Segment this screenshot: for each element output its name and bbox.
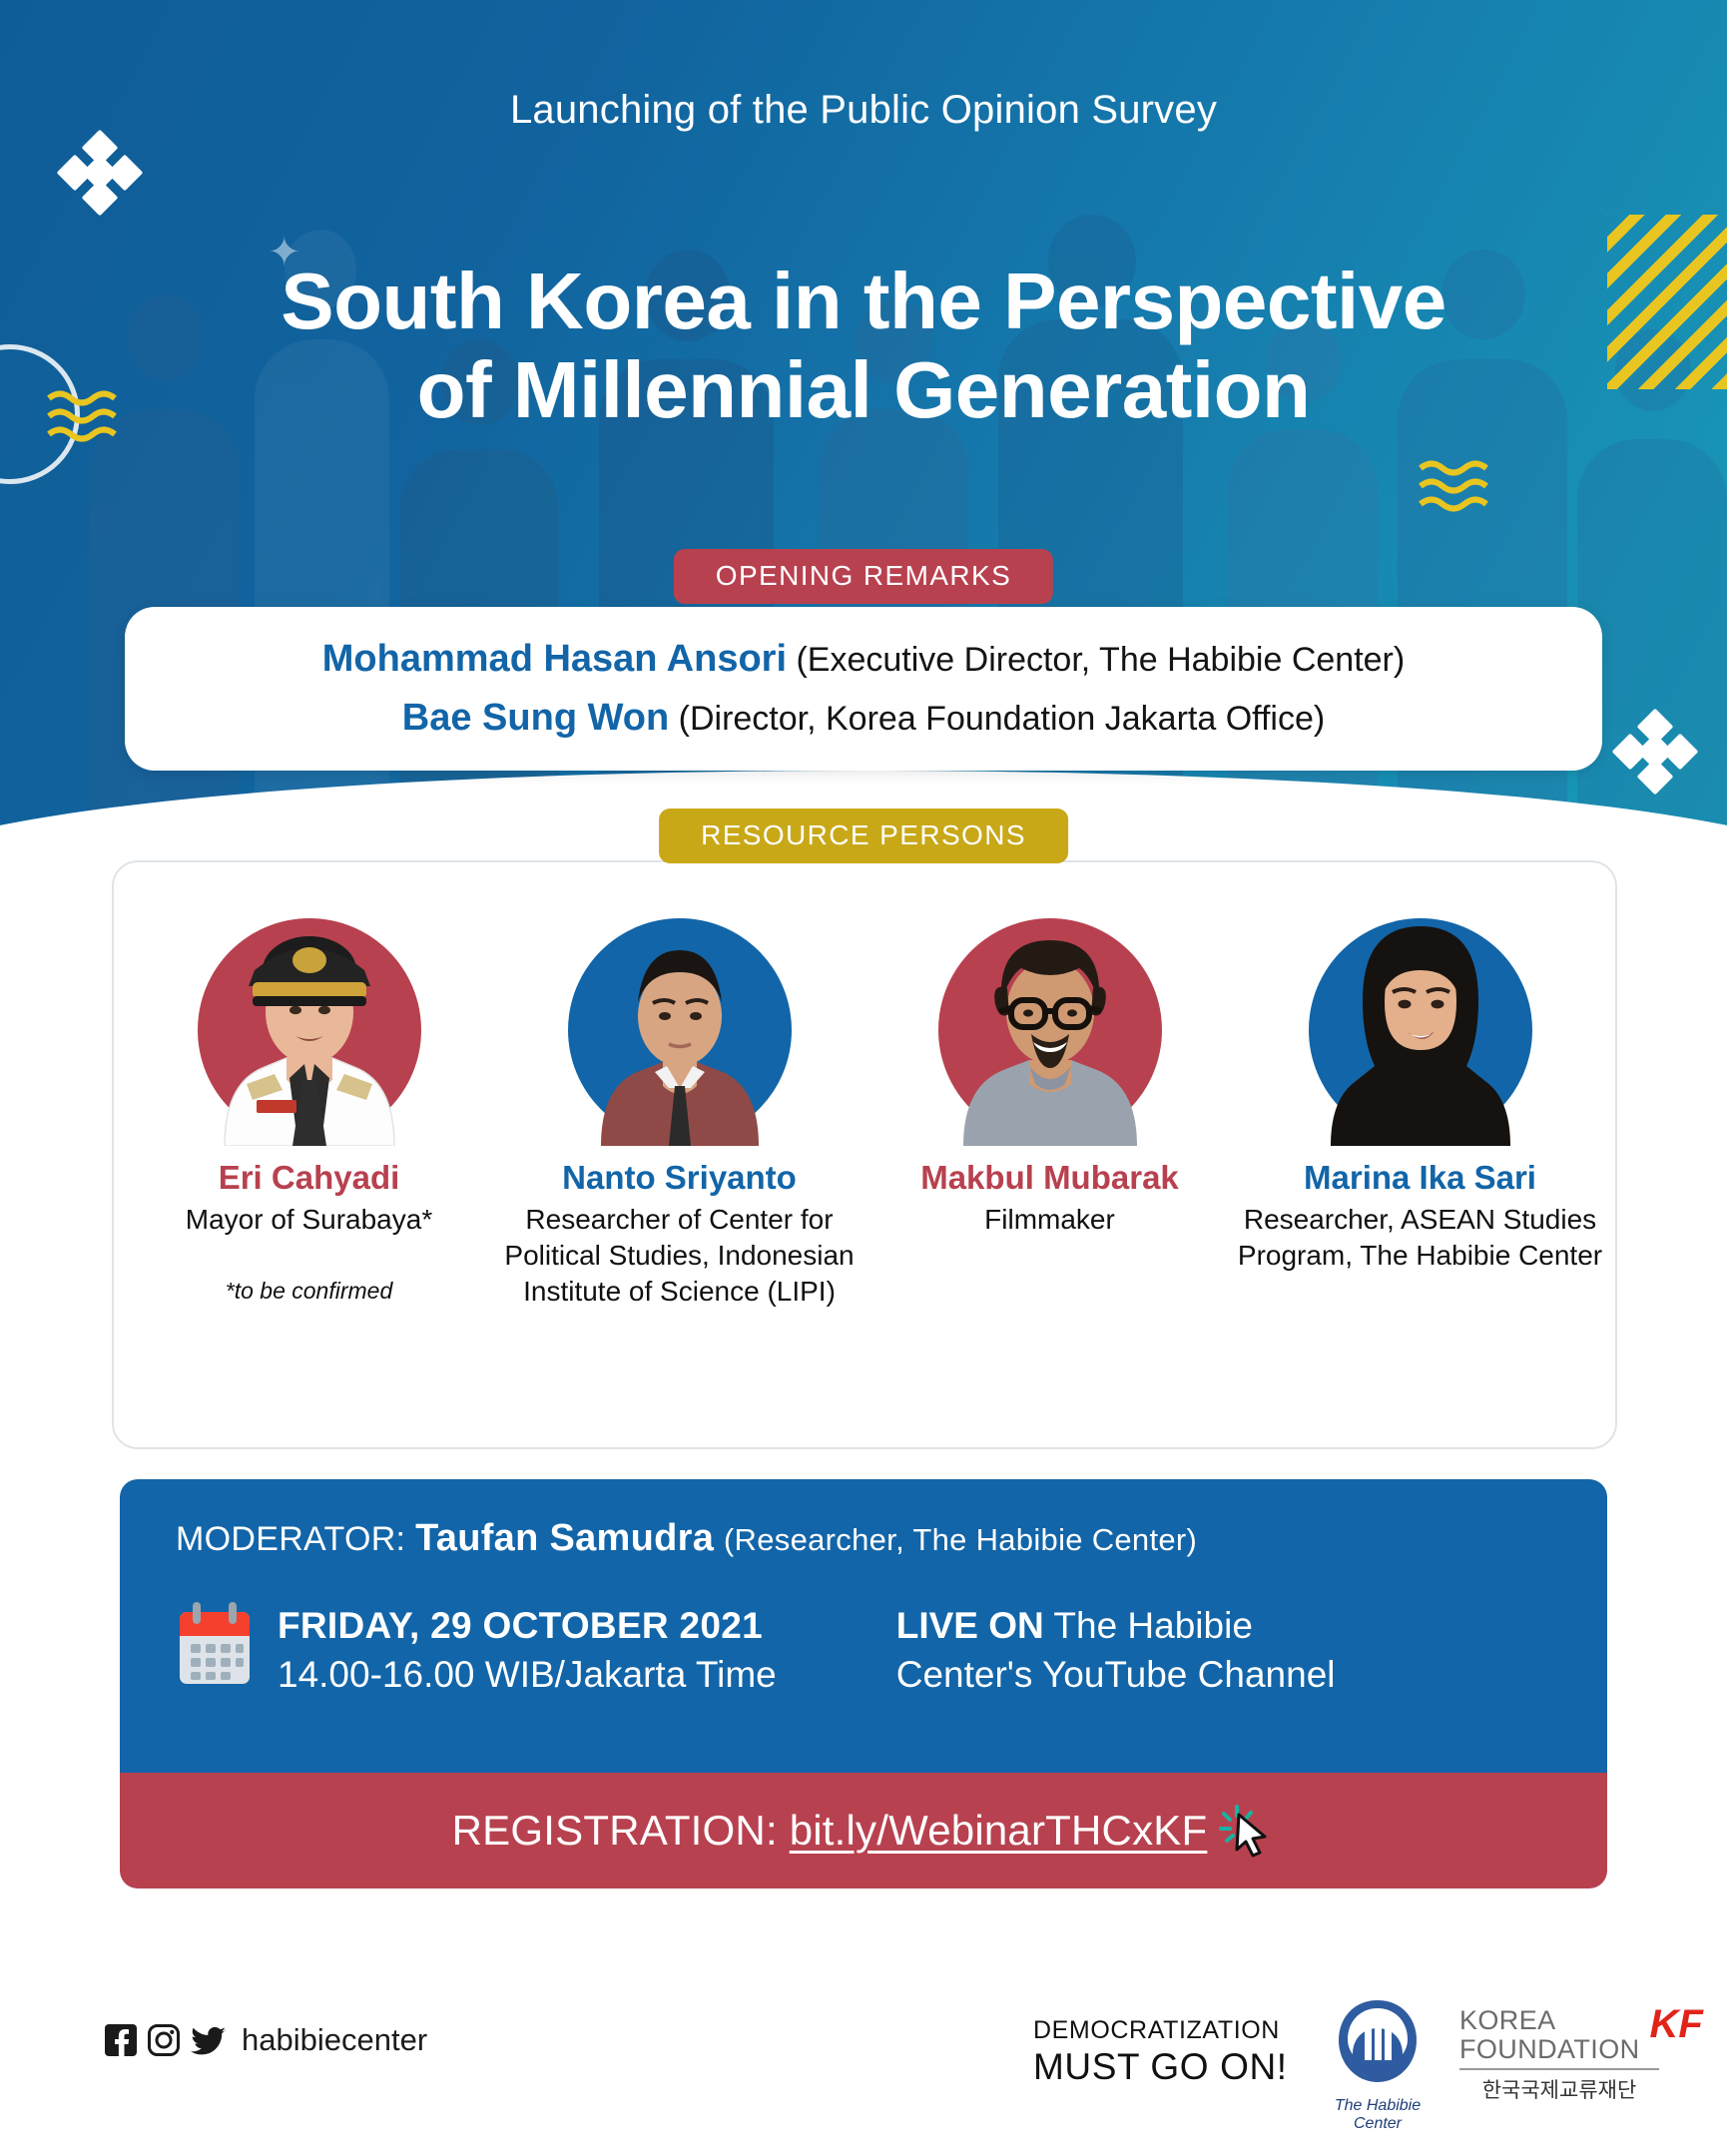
live-channel-line-2: Center's YouTube Channel: [896, 1651, 1336, 1700]
speaker-card: Eri Cahyadi Mayor of Surabaya* *to be co…: [124, 876, 494, 1447]
opening-speaker-1: Mohammad Hasan Ansori (Executive Directo…: [322, 630, 1405, 689]
event-datetime: FRIDAY, 29 OCTOBER 2021 14.00-16.00 WIB/…: [278, 1602, 777, 1700]
avatar: [549, 876, 811, 1146]
tagline-line-1: DEMOCRATIZATION: [1033, 2016, 1288, 2045]
portrait-nanto-sriyanto: [565, 884, 795, 1146]
speaker-card: Nanto Sriyanto Researcher of Center for …: [494, 876, 864, 1447]
speaker-role: Researcher, ASEAN Studies Program, The H…: [1235, 1202, 1605, 1274]
moderator-name: Taufan Samudra: [415, 1517, 714, 1559]
opening-speaker-1-title: (Executive Director, The Habibie Center): [787, 641, 1405, 679]
speaker-role: Researcher of Center for Political Studi…: [494, 1202, 864, 1309]
event-date: FRIDAY, 29 OCTOBER 2021: [278, 1602, 777, 1651]
speaker-name: Nanto Sriyanto: [562, 1160, 797, 1196]
moderator-event-block: MODERATOR: Taufan Samudra (Researcher, T…: [120, 1479, 1607, 1773]
opening-speaker-2-title: (Director, Korea Foundation Jakarta Offi…: [669, 700, 1325, 738]
speaker-role: Filmmaker: [984, 1202, 1115, 1238]
moderator-label: MODERATOR:: [176, 1520, 405, 1558]
kf-divider: [1459, 2068, 1659, 2070]
click-cursor-icon: [1215, 1801, 1275, 1861]
speaker-name: Marina Ika Sari: [1304, 1160, 1536, 1196]
diamond-cluster-icon: [62, 135, 138, 211]
registration-bar[interactable]: REGISTRATION: bit.ly/WebinarTHCxKF: [120, 1773, 1607, 1888]
live-channel-line-1: The Habibie: [1044, 1605, 1253, 1646]
habibie-center-caption: The Habibie Center: [1318, 2097, 1438, 2133]
korea-foundation-logo: KOREA FOUNDATION KF 한국국제교류재단: [1459, 2006, 1659, 2104]
speaker-name: Eri Cahyadi: [219, 1160, 400, 1196]
instagram-icon[interactable]: [148, 2024, 180, 2056]
habibie-center-mark-icon: [1335, 1998, 1421, 2090]
kf-korean-name: 한국국제교류재단: [1459, 2074, 1659, 2104]
speaker-card: Marina Ika Sari Researcher, ASEAN Studie…: [1235, 876, 1605, 1447]
avatar: [1290, 876, 1551, 1146]
tagline-line-2: MUST GO ON!: [1033, 2046, 1288, 2088]
moderator-affiliation: (Researcher, The Habibie Center): [724, 1522, 1197, 1557]
resource-persons-card: Eri Cahyadi Mayor of Surabaya* *to be co…: [112, 860, 1617, 1449]
registration-link[interactable]: bit.ly/WebinarTHCxKF: [790, 1807, 1208, 1854]
opening-speaker-2-name: Bae Sung Won: [402, 697, 669, 739]
calendar-icon: [176, 1602, 254, 1688]
title-line-2: of Millennial Generation: [417, 345, 1311, 434]
event-time: 14.00-16.00 WIB/Jakarta Time: [278, 1651, 777, 1700]
wave-lines-icon: [1418, 459, 1507, 517]
portrait-makbul-mubarak: [935, 884, 1165, 1146]
footer: habibiecenter DEMOCRATIZATION MUST GO ON…: [0, 1976, 1727, 2156]
social-links[interactable]: habibiecenter: [105, 2022, 427, 2058]
portrait-marina-ika-sari: [1306, 884, 1535, 1146]
moderator-line: MODERATOR: Taufan Samudra (Researcher, T…: [176, 1517, 1551, 1560]
registration-text: REGISTRATION: bit.ly/WebinarTHCxKF: [452, 1807, 1208, 1855]
speaker-role: Mayor of Surabaya*: [186, 1202, 432, 1238]
speaker-note: *to be confirmed: [226, 1278, 392, 1305]
avatar: [919, 876, 1181, 1146]
live-on-label: LIVE ON: [896, 1605, 1044, 1646]
portrait-eri-cahyadi: [195, 884, 424, 1146]
avatar: [179, 876, 440, 1146]
page-title: South Korea in the Perspective of Millen…: [0, 258, 1727, 435]
kf-monogram: KF: [1650, 2006, 1703, 2042]
kf-line-1: KOREA: [1459, 2006, 1640, 2035]
event-kicker: Launching of the Public Opinion Survey: [0, 88, 1727, 133]
opening-speaker-2: Bae Sung Won (Director, Korea Foundation…: [402, 689, 1325, 748]
registration-label: REGISTRATION:: [452, 1807, 778, 1854]
event-when-row: FRIDAY, 29 OCTOBER 2021 14.00-16.00 WIB/…: [176, 1602, 1551, 1700]
resource-persons-badge: RESOURCE PERSONS: [659, 808, 1068, 863]
opening-speaker-1-name: Mohammad Hasan Ansori: [322, 638, 787, 680]
democratization-tagline: DEMOCRATIZATION MUST GO ON!: [1033, 2016, 1288, 2088]
event-live-channel: LIVE ON The Habibie Center's YouTube Cha…: [896, 1602, 1336, 1700]
habibie-center-logo: The Habibie Center: [1318, 1998, 1438, 2133]
title-line-1: South Korea in the Perspective: [281, 257, 1446, 345]
opening-remarks-badge: OPENING REMARKS: [674, 549, 1053, 604]
kf-line-2: FOUNDATION: [1459, 2035, 1640, 2064]
facebook-icon[interactable]: [105, 2024, 137, 2056]
twitter-icon[interactable]: [191, 2024, 227, 2056]
opening-remarks-card: Mohammad Hasan Ansori (Executive Directo…: [125, 607, 1602, 771]
speaker-card: Makbul Mubarak Filmmaker: [864, 876, 1235, 1447]
diamond-cluster-icon: [1617, 714, 1693, 790]
social-handle: habibiecenter: [242, 2022, 427, 2058]
speaker-name: Makbul Mubarak: [920, 1160, 1179, 1196]
